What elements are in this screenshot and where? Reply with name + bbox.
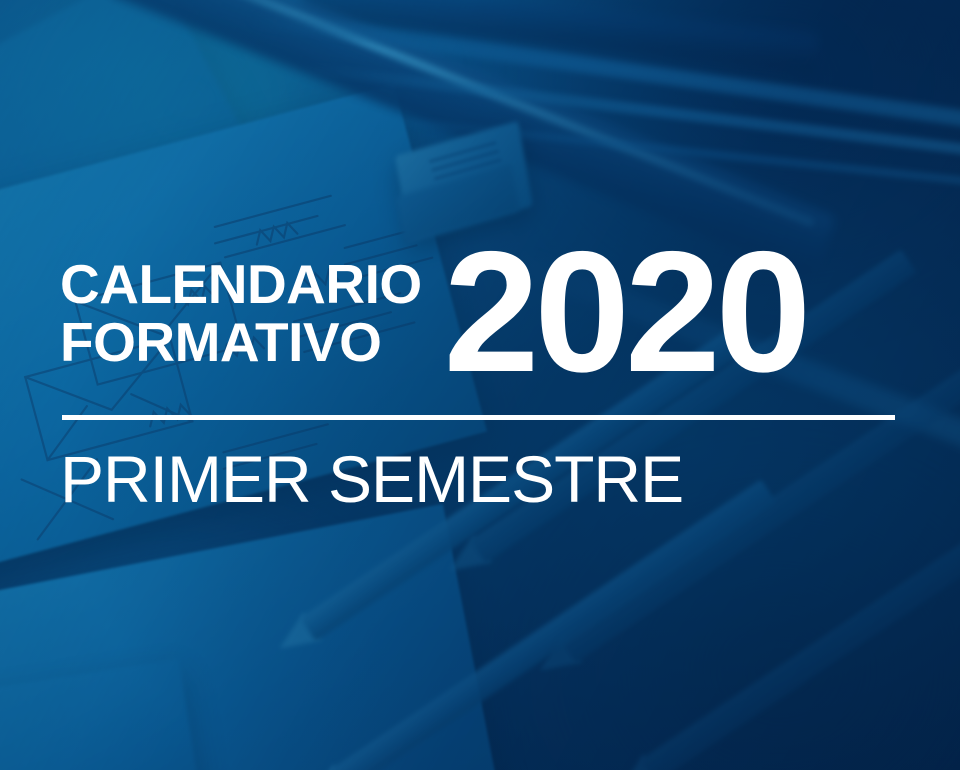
title-line-2: FORMATIVO bbox=[60, 313, 422, 371]
title-line-1: CALENDARIO bbox=[60, 253, 422, 315]
title-year: 2020 bbox=[444, 243, 807, 381]
title-words: CALENDARIO FORMATIVO bbox=[60, 243, 422, 371]
poster-content: CALENDARIO FORMATIVO 2020 PRIMER SEMESTR… bbox=[0, 0, 960, 770]
calendar-poster: CALENDARIO FORMATIVO 2020 PRIMER SEMESTR… bbox=[0, 0, 960, 770]
poster-title: CALENDARIO FORMATIVO 2020 bbox=[60, 243, 910, 381]
poster-subtitle: PRIMER SEMESTRE bbox=[60, 446, 683, 512]
title-divider bbox=[62, 415, 895, 420]
